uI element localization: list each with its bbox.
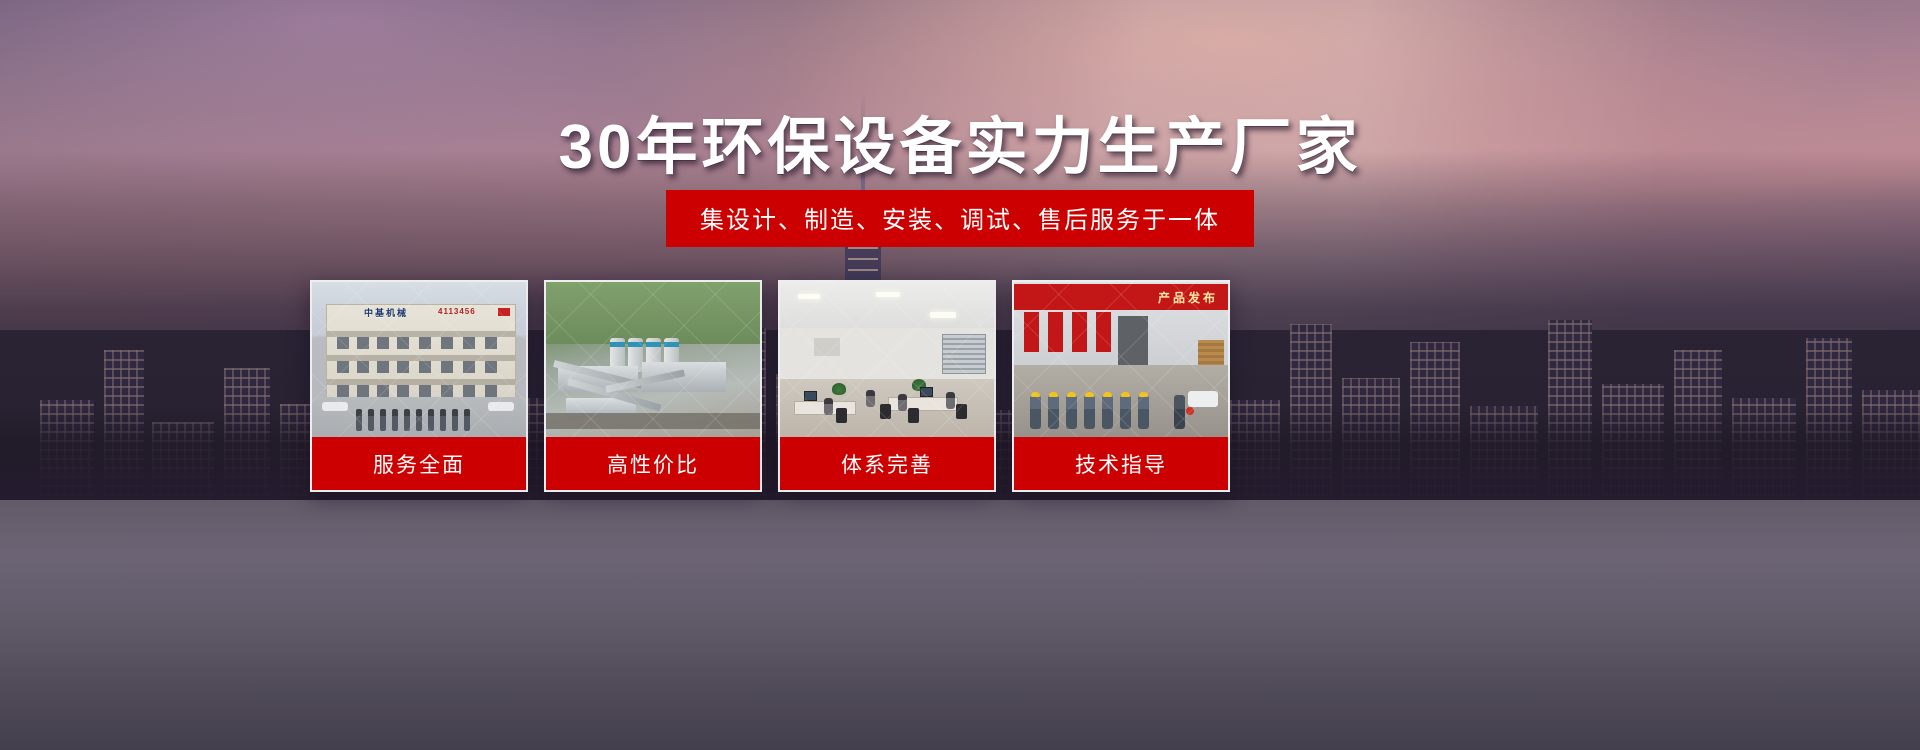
card-label: 技术指导 (1014, 437, 1228, 490)
hero-banner: 30年环保设备实力生产厂家 集设计、制造、安装、调试、售后服务于一体 (0, 0, 1920, 750)
card-photo-workers: 产品发布 (1014, 282, 1228, 437)
factory-banner-text: 产品发布 (1014, 284, 1228, 310)
feature-card[interactable]: 体系完善 (778, 280, 996, 492)
feature-card[interactable]: 高性价比 (544, 280, 762, 492)
feature-card-list: 中基机械 4113456 服务全面 (310, 280, 1560, 492)
card-label: 服务全面 (312, 437, 526, 490)
card-photo-plant (546, 282, 760, 437)
feature-card[interactable]: 中基机械 4113456 服务全面 (310, 280, 528, 492)
building-sign-text: 中基机械 (364, 306, 408, 319)
card-label: 高性价比 (546, 437, 760, 490)
card-photo-office (780, 282, 994, 437)
building-phone-text: 4113456 (438, 307, 476, 316)
subtitle-banner: 集设计、制造、安装、调试、售后服务于一体 (666, 190, 1254, 247)
card-photo-headquarters: 中基机械 4113456 (312, 282, 526, 437)
feature-card[interactable]: 产品发布 技术指导 (1012, 280, 1230, 492)
subtitle-container: 集设计、制造、安装、调试、售后服务于一体 (0, 190, 1920, 247)
page-title: 30年环保设备实力生产厂家 (0, 96, 1920, 186)
card-label: 体系完善 (780, 437, 994, 490)
